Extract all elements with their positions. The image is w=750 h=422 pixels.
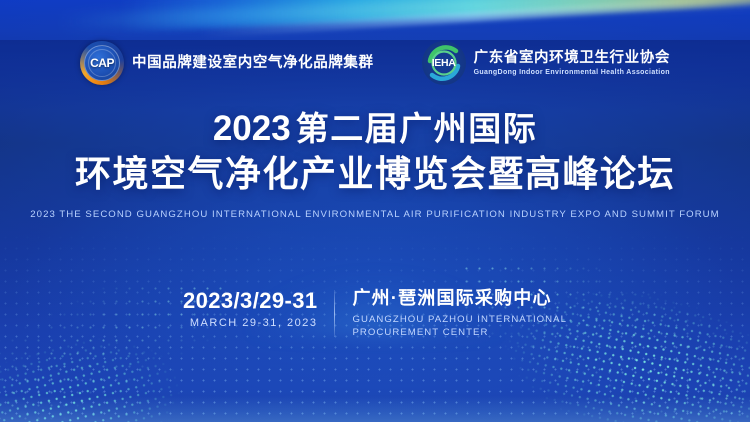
event-info-block: 2023/3/29-31 MARCH 29-31, 2023 广州·琶洲国际采购… [0, 288, 750, 340]
event-venue-en-line1: GUANGZHOU PAZHOU INTERNATIONAL [352, 313, 567, 327]
bottom-sheen [0, 396, 750, 422]
organizer-logo-row: CAP 中国品牌建设室内空气净化品牌集群 IEHA 广东省室内环境卫生行业协会 … [0, 38, 750, 88]
ieha-name-en: GuangDong Indoor Environmental Health As… [474, 69, 670, 76]
ieha-logo-text: 广东省室内环境卫生行业协会 GuangDong Indoor Environme… [474, 50, 670, 76]
ieha-logo-mark: IEHA [432, 57, 456, 69]
organizer-ieha: IEHA 广东省室内环境卫生行业协会 GuangDong Indoor Envi… [422, 41, 670, 85]
event-date-cn: 2023/3/29-31 [183, 289, 317, 312]
dot-wave-right-curve [460, 262, 750, 422]
event-venue-en-line2: PROCUREMENT CENTER [352, 326, 567, 340]
cap-name-cn: 中国品牌建设室内空气净化品牌集群 [132, 55, 374, 72]
headline-line-1: 2023第二届广州国际 [0, 108, 750, 149]
headline-year: 2023 [213, 109, 291, 148]
cap-logo-mark: CAP [90, 56, 114, 70]
organizer-cap: CAP 中国品牌建设室内空气净化品牌集群 [80, 41, 374, 85]
ieha-circular-badge-icon: IEHA [422, 41, 466, 85]
headline-subtitle-en: 2023 THE SECOND GUANGZHOU INTERNATIONAL … [0, 209, 750, 220]
event-date-en: MARCH 29-31, 2023 [183, 317, 317, 329]
headline-line-1-rest: 第二届广州国际 [296, 110, 538, 147]
light-streak-highlight [200, 0, 750, 38]
headline-line-2: 环境空气净化产业博览会暨高峰论坛 [0, 153, 750, 195]
headline-block: 2023第二届广州国际 环境空气净化产业博览会暨高峰论坛 2023 THE SE… [0, 108, 750, 220]
event-date: 2023/3/29-31 MARCH 29-31, 2023 [183, 288, 317, 329]
ieha-name-cn: 广东省室内环境卫生行业协会 [474, 50, 670, 67]
event-venue-cn: 广州·琶洲国际采购中心 [352, 289, 567, 309]
light-streak-secondary [60, 0, 750, 30]
cap-circular-badge-icon: CAP [80, 41, 124, 85]
info-divider [334, 290, 335, 337]
cap-logo-text: 中国品牌建设室内空气净化品牌集群 [132, 55, 374, 72]
event-poster: CAP 中国品牌建设室内空气净化品牌集群 IEHA 广东省室内环境卫生行业协会 … [0, 0, 750, 422]
event-venue: 广州·琶洲国际采购中心 GUANGZHOU PAZHOU INTERNATION… [352, 288, 567, 340]
light-streak-primary [119, 0, 750, 32]
